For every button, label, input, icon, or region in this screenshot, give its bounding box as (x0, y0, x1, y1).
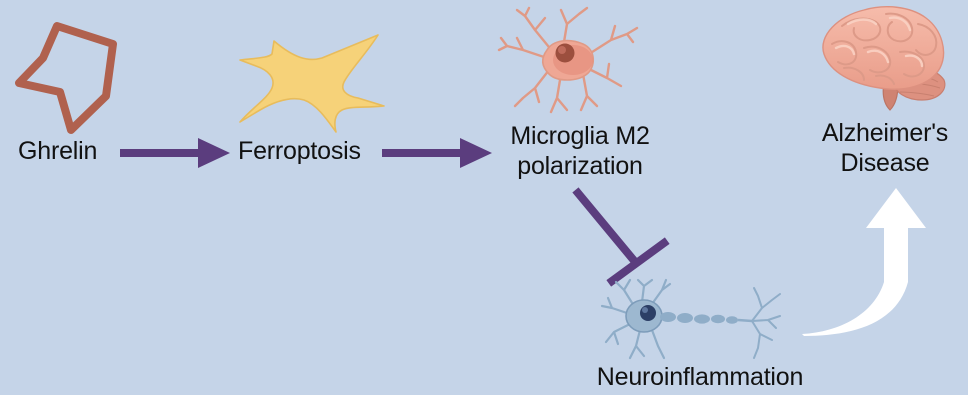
neuron-icon (600, 280, 810, 362)
microglia-label: Microglia M2 polarization (490, 121, 670, 181)
curved-arrow-icon (800, 186, 930, 336)
ferroptosis-icon-wrap (238, 28, 388, 133)
microglia-icon-wrap (495, 6, 640, 121)
inhibition-t-bar-icon (570, 185, 680, 295)
star-outline-icon (14, 18, 126, 136)
pathway-diagram-canvas: Ghrelin Ferroptosis (0, 0, 968, 401)
spiky-cell-icon (238, 28, 388, 133)
alzheimers-label: Alzheimer's Disease (805, 118, 965, 178)
brain-icon-wrap (818, 4, 954, 116)
neuroinflammation-to-alzheimers-arrow (800, 186, 930, 336)
ghrelin-icon-wrap (14, 18, 126, 136)
microglia-cell-icon (495, 6, 640, 121)
microglia-inhibition-connector (570, 185, 680, 295)
ferroptosis-to-microglia-arrow (382, 136, 492, 170)
ferroptosis-label: Ferroptosis (238, 136, 388, 166)
brain-icon (818, 4, 954, 116)
bottom-white-strip (0, 395, 968, 401)
ghrelin-label: Ghrelin (18, 136, 118, 166)
neuron-icon-wrap (600, 280, 810, 362)
ghrelin-to-ferroptosis-arrow (120, 136, 230, 170)
neuroinflammation-label: Neuroinflammation (580, 362, 820, 392)
